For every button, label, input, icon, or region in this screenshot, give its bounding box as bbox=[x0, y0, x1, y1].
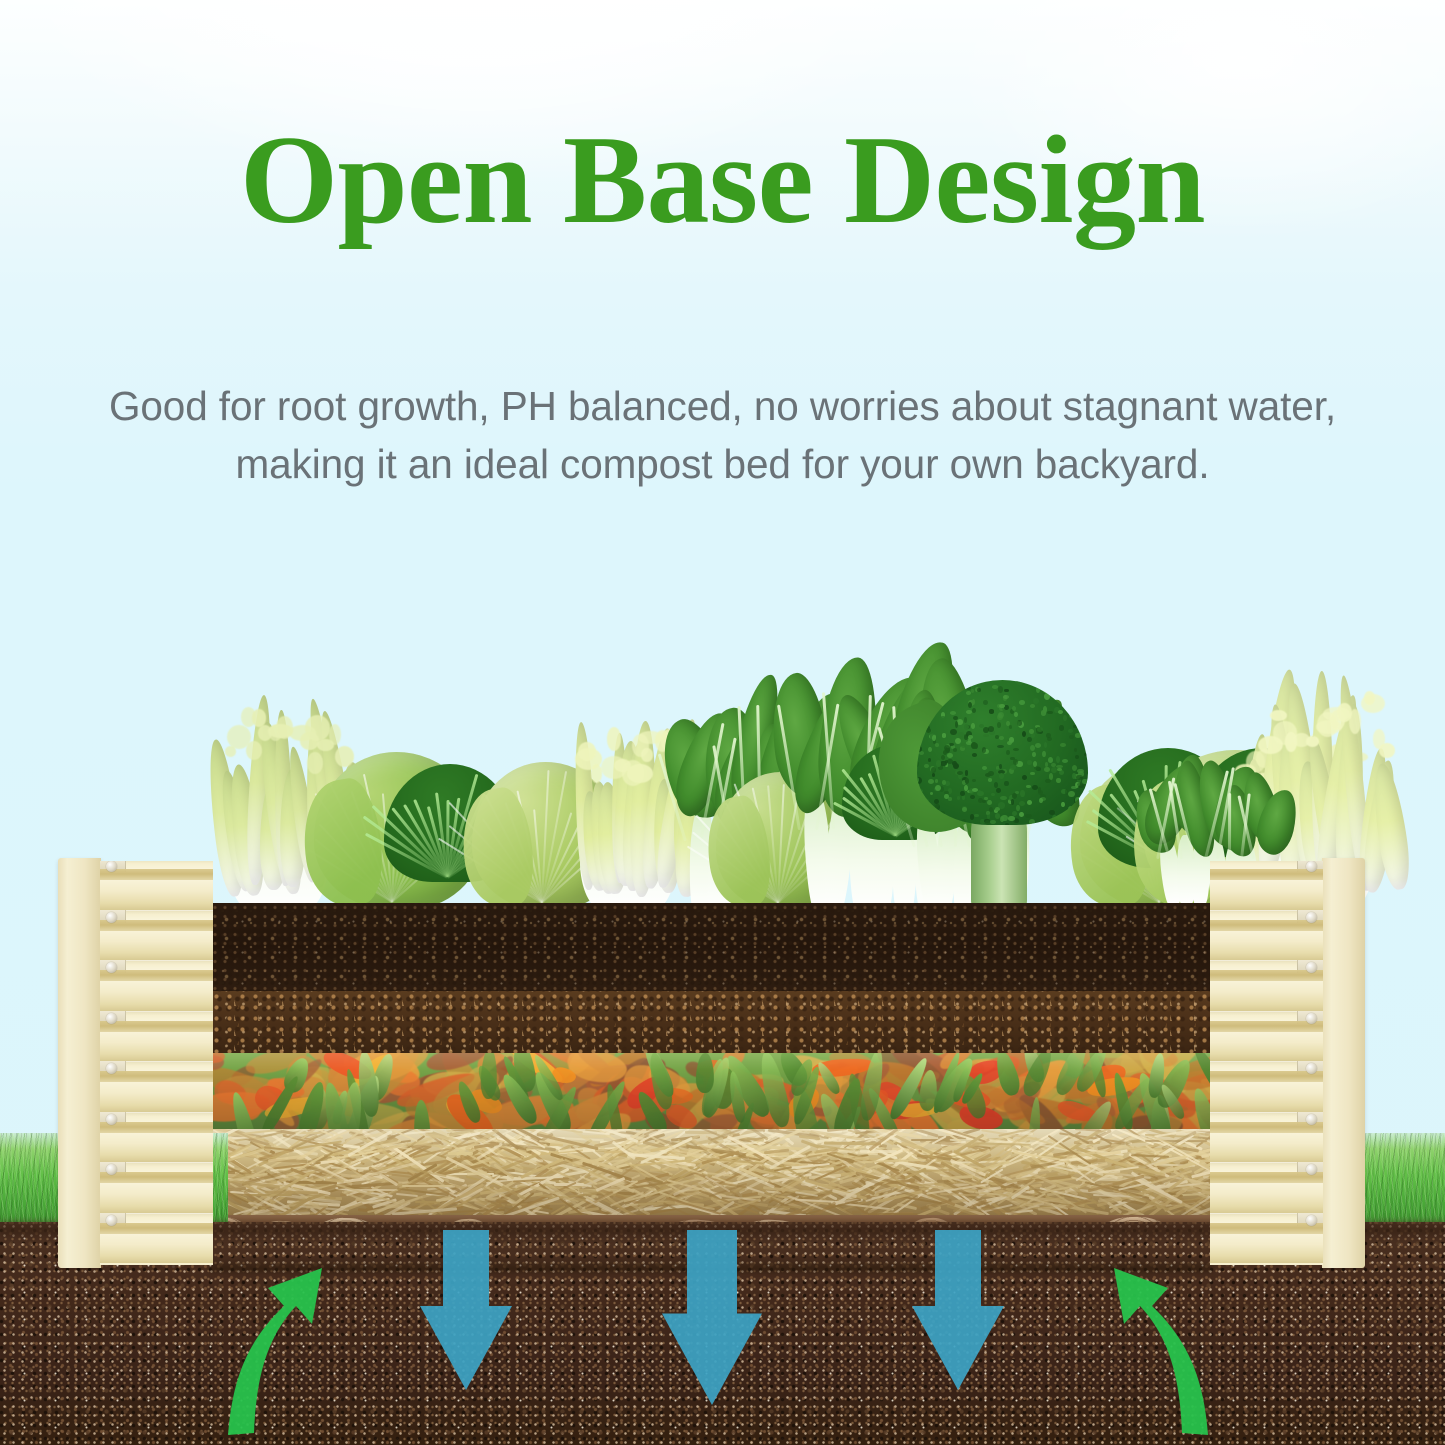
broccoli-floret bbox=[991, 793, 995, 796]
broccoli-floret bbox=[1000, 816, 1004, 822]
broccoli-floret bbox=[1054, 690, 1060, 696]
broccoli-floret bbox=[1003, 695, 1009, 699]
broccoli-floret bbox=[1062, 759, 1068, 763]
drainage-arrow-down bbox=[420, 1230, 512, 1390]
broccoli-floret bbox=[936, 760, 941, 766]
broccoli-floret bbox=[972, 699, 976, 705]
broccoli-floret bbox=[1004, 689, 1008, 693]
slat-screw bbox=[106, 1164, 117, 1175]
broccoli-floret bbox=[982, 766, 987, 770]
broccoli-floret bbox=[1025, 814, 1032, 819]
broccoli-floret bbox=[1047, 737, 1052, 741]
broccoli-floret bbox=[961, 743, 966, 748]
broccoli-floret bbox=[1072, 765, 1077, 771]
slat-lip bbox=[1210, 1021, 1323, 1032]
slat-lip bbox=[1210, 869, 1323, 880]
straw-shading bbox=[210, 1129, 1213, 1215]
broccoli-floret bbox=[984, 797, 987, 800]
broccoli-floret bbox=[941, 755, 945, 760]
broccoli-floret bbox=[1029, 819, 1034, 825]
broccoli-floret bbox=[935, 785, 941, 791]
broccoli-floret bbox=[932, 773, 935, 777]
slat-lip bbox=[1210, 920, 1323, 931]
broccoli-floret bbox=[1044, 742, 1048, 748]
broccoli-floret bbox=[962, 807, 967, 812]
broccoli-floret bbox=[1008, 816, 1014, 820]
broccoli-floret bbox=[1063, 690, 1069, 695]
planter-slat bbox=[100, 960, 213, 1011]
broccoli-floret bbox=[930, 680, 934, 683]
broccoli-floret bbox=[1030, 704, 1035, 708]
broccoli-floret bbox=[950, 729, 956, 735]
broccoli-floret bbox=[1015, 731, 1020, 734]
slat-screw bbox=[106, 962, 117, 973]
broccoli-floret bbox=[955, 738, 961, 744]
broccoli-floret bbox=[1013, 748, 1019, 751]
broccoli-floret bbox=[974, 814, 979, 817]
broccoli-floret bbox=[935, 680, 941, 682]
broccoli-floret bbox=[1030, 772, 1035, 775]
broccoli-floret bbox=[965, 770, 969, 775]
broccoli-floret bbox=[1077, 699, 1082, 703]
broccoli-floret bbox=[1012, 706, 1016, 711]
slat-screw bbox=[1306, 861, 1317, 872]
broccoli-floret bbox=[1045, 779, 1051, 784]
planter-slat bbox=[100, 861, 213, 910]
broccoli-floret bbox=[1061, 684, 1067, 688]
broccoli-floret bbox=[919, 710, 923, 714]
broccoli-floret bbox=[1022, 775, 1028, 781]
broccoli-floret bbox=[1061, 802, 1064, 807]
planter-slat bbox=[1210, 861, 1323, 910]
slat-screw bbox=[106, 1063, 117, 1074]
arrow-layer bbox=[0, 1230, 1445, 1445]
broccoli-floret bbox=[972, 753, 977, 757]
broccoli-floret bbox=[962, 795, 965, 800]
broccoli-floret bbox=[996, 788, 1001, 794]
broccoli-floret bbox=[943, 750, 947, 755]
broccoli-floret bbox=[983, 734, 989, 737]
broccoli-floret bbox=[1033, 761, 1037, 767]
broccoli-floret bbox=[1005, 823, 1010, 825]
broccoli-floret bbox=[945, 781, 950, 785]
broccoli-floret bbox=[1010, 765, 1016, 770]
broccoli-floret bbox=[1069, 735, 1075, 740]
broccoli-floret bbox=[935, 743, 938, 747]
planter-slat bbox=[100, 910, 213, 961]
broccoli-floret bbox=[1033, 698, 1039, 704]
broccoli-floret bbox=[930, 792, 934, 796]
broccoli-floret bbox=[1067, 707, 1074, 712]
napa-frill bbox=[627, 764, 653, 783]
slat-screw bbox=[106, 1114, 117, 1125]
broccoli-floret bbox=[1051, 819, 1054, 824]
broccoli-floret bbox=[982, 747, 986, 753]
drainage-arrow-down bbox=[912, 1230, 1004, 1390]
broccoli-floret bbox=[953, 689, 957, 694]
broccoli-floret bbox=[1077, 707, 1081, 713]
broccoli-floret bbox=[953, 748, 957, 753]
broccoli-floret bbox=[942, 780, 946, 785]
broccoli-floret bbox=[1026, 785, 1031, 788]
planter-slat bbox=[100, 1011, 213, 1062]
broccoli-floret bbox=[997, 722, 1001, 727]
broccoli-floret bbox=[1079, 696, 1085, 700]
broccoli-floret bbox=[972, 708, 976, 713]
broccoli-floret bbox=[957, 771, 963, 775]
broccoli-floret bbox=[1084, 753, 1088, 756]
broccoli-floret bbox=[978, 790, 981, 795]
planter-wall-right bbox=[1210, 858, 1365, 1268]
broccoli-floret bbox=[1016, 680, 1023, 685]
broccoli-crown bbox=[917, 680, 1088, 825]
broccoli-floret bbox=[942, 707, 946, 711]
broccoli-floret bbox=[955, 721, 958, 728]
broccoli-floret bbox=[917, 685, 922, 690]
broccoli-floret bbox=[1030, 745, 1036, 751]
broccoli-floret bbox=[970, 795, 975, 799]
broccoli-floret bbox=[1012, 811, 1017, 816]
broccoli-floret bbox=[999, 764, 1002, 769]
broccoli-floret bbox=[1041, 710, 1047, 715]
slat-panel-left bbox=[100, 861, 213, 1265]
planter-slat bbox=[1210, 1011, 1323, 1062]
broccoli-floret bbox=[917, 761, 919, 767]
broccoli-floret bbox=[960, 791, 964, 796]
broccoli-floret bbox=[1006, 750, 1010, 756]
broccoli-floret bbox=[1044, 693, 1050, 699]
broccoli-floret bbox=[1009, 725, 1012, 729]
broccoli-floret bbox=[917, 789, 923, 793]
slat-lip bbox=[100, 1071, 213, 1082]
broccoli-floret bbox=[1019, 700, 1025, 705]
slat-lip bbox=[1210, 1172, 1323, 1183]
broccoli-floret bbox=[1075, 733, 1081, 737]
broccoli-floret bbox=[1036, 687, 1040, 693]
broccoli-floret bbox=[1032, 785, 1038, 790]
broccoli-floret bbox=[1073, 687, 1077, 692]
slat-screw bbox=[106, 1013, 117, 1024]
broccoli-floret bbox=[979, 724, 985, 728]
poster-canvas: Open Base Design Good for root growth, P… bbox=[0, 0, 1445, 1445]
broccoli-floret bbox=[1014, 712, 1018, 717]
planter-wall-left bbox=[58, 858, 213, 1268]
slat-lip bbox=[100, 1122, 213, 1133]
broccoli-floret bbox=[969, 681, 975, 684]
broccoli-floret bbox=[999, 773, 1004, 779]
broccoli-floret bbox=[917, 731, 920, 737]
broccoli-floret bbox=[917, 699, 923, 704]
broccoli-floret bbox=[1069, 713, 1073, 718]
broccoli-floret bbox=[1058, 710, 1063, 714]
broccoli-floret bbox=[1074, 748, 1078, 752]
broccoli-floret bbox=[922, 715, 927, 722]
broccoli-floret bbox=[1056, 756, 1060, 763]
slat-lip bbox=[1210, 1122, 1323, 1133]
broccoli-floret bbox=[1020, 790, 1025, 796]
broccoli-floret bbox=[971, 689, 974, 693]
broccoli-floret bbox=[989, 709, 995, 713]
vegetable-row bbox=[196, 604, 1386, 910]
broccoli-floret bbox=[977, 688, 981, 692]
planter-slat bbox=[1210, 960, 1323, 1011]
napa-frill bbox=[329, 724, 341, 744]
broccoli-floret bbox=[1051, 767, 1056, 773]
broccoli-floret bbox=[985, 820, 990, 825]
napa-frill bbox=[578, 742, 596, 761]
broccoli-floret bbox=[1000, 796, 1006, 800]
broccoli-floret bbox=[1072, 773, 1075, 779]
slat-screw bbox=[1306, 962, 1317, 973]
broccoli-floret bbox=[948, 797, 952, 801]
broccoli-floret bbox=[967, 823, 973, 825]
broccoli-floret bbox=[990, 680, 994, 683]
broccoli-floret bbox=[964, 724, 969, 730]
broccoli-floret bbox=[931, 767, 936, 773]
layer-topsoil bbox=[210, 903, 1213, 991]
planter-slat bbox=[100, 1061, 213, 1112]
napa-frill bbox=[1306, 736, 1319, 747]
broccoli-floret bbox=[924, 799, 929, 803]
broccoli-floret bbox=[939, 811, 944, 817]
broccoli-floret bbox=[987, 814, 990, 819]
broccoli-floret bbox=[931, 687, 936, 692]
broccoli-floret bbox=[966, 710, 972, 715]
broccoli-floret bbox=[957, 796, 960, 800]
broccoli-floret bbox=[978, 798, 983, 803]
planter-slat bbox=[100, 1162, 213, 1213]
broccoli-floret bbox=[1053, 681, 1057, 686]
broccoli-floret bbox=[997, 745, 1003, 748]
broccoli-floret bbox=[932, 735, 936, 741]
planter-slat bbox=[1210, 1112, 1323, 1163]
corner-post-right bbox=[1322, 858, 1365, 1268]
broccoli-floret bbox=[1071, 786, 1077, 790]
broccoli-floret bbox=[919, 724, 924, 729]
slat-lip bbox=[100, 920, 213, 931]
planter-slat bbox=[1210, 910, 1323, 961]
napa-frill bbox=[246, 741, 262, 760]
napa-frill bbox=[1361, 694, 1385, 713]
broccoli-floret bbox=[992, 685, 998, 689]
broccoli-floret bbox=[1031, 733, 1035, 738]
broccoli-floret bbox=[1025, 680, 1029, 683]
broccoli-floret bbox=[965, 778, 969, 783]
broccoli-floret bbox=[995, 735, 999, 739]
planter-slat bbox=[1210, 1162, 1323, 1213]
broccoli-floret bbox=[935, 779, 939, 783]
broccoli-floret bbox=[951, 702, 955, 706]
broccoli-floret bbox=[1007, 741, 1012, 745]
broccoli-floret bbox=[1019, 812, 1024, 817]
broccoli-floret bbox=[999, 736, 1004, 740]
slat-screw bbox=[1306, 1215, 1317, 1226]
broccoli-floret bbox=[952, 680, 956, 682]
broccoli-floret bbox=[1012, 793, 1017, 799]
broccoli-floret bbox=[924, 764, 929, 768]
broccoli-floret bbox=[1019, 801, 1025, 806]
planter-slat bbox=[100, 1112, 213, 1163]
broccoli-floret bbox=[1084, 735, 1089, 741]
corner-post-left bbox=[58, 858, 101, 1268]
broccoli-floret bbox=[1011, 799, 1015, 805]
broccoli-floret bbox=[1027, 737, 1031, 742]
broccoli-floret bbox=[1035, 743, 1041, 748]
broccoli-floret bbox=[1022, 731, 1026, 737]
broccoli-floret bbox=[1063, 818, 1069, 824]
aeration-arrow-up bbox=[228, 1268, 322, 1435]
broccoli-floret bbox=[1059, 725, 1064, 731]
broccoli-floret bbox=[940, 716, 946, 720]
broccoli-floret bbox=[1004, 781, 1008, 786]
broccoli-floret bbox=[1060, 743, 1065, 747]
napa-frill bbox=[1349, 709, 1361, 734]
slat-screw bbox=[1306, 912, 1317, 923]
napa-frill bbox=[1379, 743, 1395, 758]
broccoli-floret bbox=[946, 684, 952, 689]
broccoli-floret bbox=[983, 700, 987, 705]
broccoli-floret bbox=[1056, 822, 1062, 825]
layer-mulch bbox=[210, 991, 1213, 1053]
broccoli-floret bbox=[1068, 791, 1074, 797]
drainage-arrow-down bbox=[662, 1230, 762, 1405]
broccoli-floret bbox=[990, 820, 996, 824]
broccoli-floret bbox=[1073, 725, 1077, 729]
broccoli-floret bbox=[988, 771, 994, 776]
vegetable-broccoli bbox=[908, 660, 1094, 910]
broccoli-floret bbox=[1027, 800, 1032, 805]
broccoli-floret bbox=[994, 782, 998, 787]
slat-lip bbox=[1210, 1071, 1323, 1082]
slat-lip bbox=[100, 1021, 213, 1032]
broccoli-floret bbox=[942, 733, 947, 737]
broccoli-floret bbox=[1027, 760, 1032, 765]
broccoli-floret bbox=[998, 802, 1004, 808]
aeration-arrow-up bbox=[1114, 1268, 1208, 1435]
broccoli-floret bbox=[929, 703, 935, 708]
broccoli-floret bbox=[1045, 680, 1050, 683]
broccoli-floret bbox=[950, 711, 956, 715]
broccoli-floret bbox=[928, 779, 934, 784]
slat-lip bbox=[100, 970, 213, 981]
slat-screw bbox=[106, 912, 117, 923]
layer-food-scraps bbox=[210, 1053, 1213, 1129]
slat-screw bbox=[1306, 1114, 1317, 1125]
slat-screw bbox=[1306, 1013, 1317, 1024]
broccoli-floret bbox=[1032, 752, 1036, 757]
slat-screw bbox=[1306, 1063, 1317, 1074]
flow-arrows bbox=[0, 1230, 1445, 1445]
broccoli-floret bbox=[1068, 729, 1073, 733]
broccoli-floret bbox=[988, 778, 993, 782]
planter-slat bbox=[1210, 1061, 1323, 1112]
broccoli-floret bbox=[971, 723, 975, 728]
broccoli-floret bbox=[998, 712, 1004, 719]
broccoli-floret bbox=[1042, 751, 1045, 757]
broccoli-floret bbox=[1043, 689, 1049, 693]
broccoli-stalk bbox=[971, 810, 1027, 910]
broccoli-floret bbox=[1039, 798, 1043, 804]
compost-bed-layers bbox=[210, 903, 1213, 1265]
broccoli-floret bbox=[936, 685, 939, 691]
broccoli-floret bbox=[989, 807, 993, 813]
broccoli-floret bbox=[928, 747, 932, 752]
slat-panel-right bbox=[1210, 861, 1323, 1265]
broccoli-floret bbox=[1049, 810, 1054, 815]
broccoli-floret bbox=[929, 693, 935, 699]
broccoli-floret bbox=[1047, 711, 1053, 715]
slat-lip bbox=[1210, 970, 1323, 981]
broccoli-floret bbox=[987, 800, 992, 805]
broccoli-floret bbox=[928, 758, 931, 762]
broccoli-floret bbox=[946, 694, 952, 699]
napa-frill bbox=[641, 748, 652, 762]
broccoli-floret bbox=[1056, 778, 1060, 782]
broccoli-floret bbox=[1040, 822, 1045, 825]
broccoli-floret bbox=[1063, 715, 1067, 721]
napa-frill bbox=[305, 715, 330, 741]
broccoli-floret bbox=[1044, 767, 1050, 773]
broccoli-floret bbox=[1029, 729, 1034, 734]
layer-straw bbox=[210, 1129, 1213, 1215]
broccoli-floret bbox=[947, 753, 953, 758]
broccoli-floret bbox=[998, 686, 1003, 692]
broccoli-floret bbox=[918, 819, 922, 823]
garden-bed-illustration bbox=[0, 0, 1445, 1445]
broccoli-floret bbox=[953, 763, 959, 769]
scrap-layer-shading bbox=[210, 1053, 1213, 1129]
broccoli-floret bbox=[1062, 700, 1067, 704]
broccoli-floret bbox=[972, 779, 977, 782]
broccoli-floret bbox=[1075, 755, 1079, 759]
slat-screw bbox=[106, 861, 117, 872]
broccoli-floret bbox=[1082, 725, 1087, 729]
slat-screw bbox=[106, 1215, 117, 1226]
broccoli-floret bbox=[1013, 759, 1019, 765]
broccoli-floret bbox=[1016, 805, 1020, 812]
slat-screw bbox=[1306, 1164, 1317, 1175]
slat-lip bbox=[100, 1172, 213, 1183]
slat-lip bbox=[100, 869, 213, 880]
broccoli-floret bbox=[964, 717, 968, 723]
broccoli-floret bbox=[1038, 790, 1043, 795]
broccoli-floret bbox=[1080, 685, 1086, 690]
